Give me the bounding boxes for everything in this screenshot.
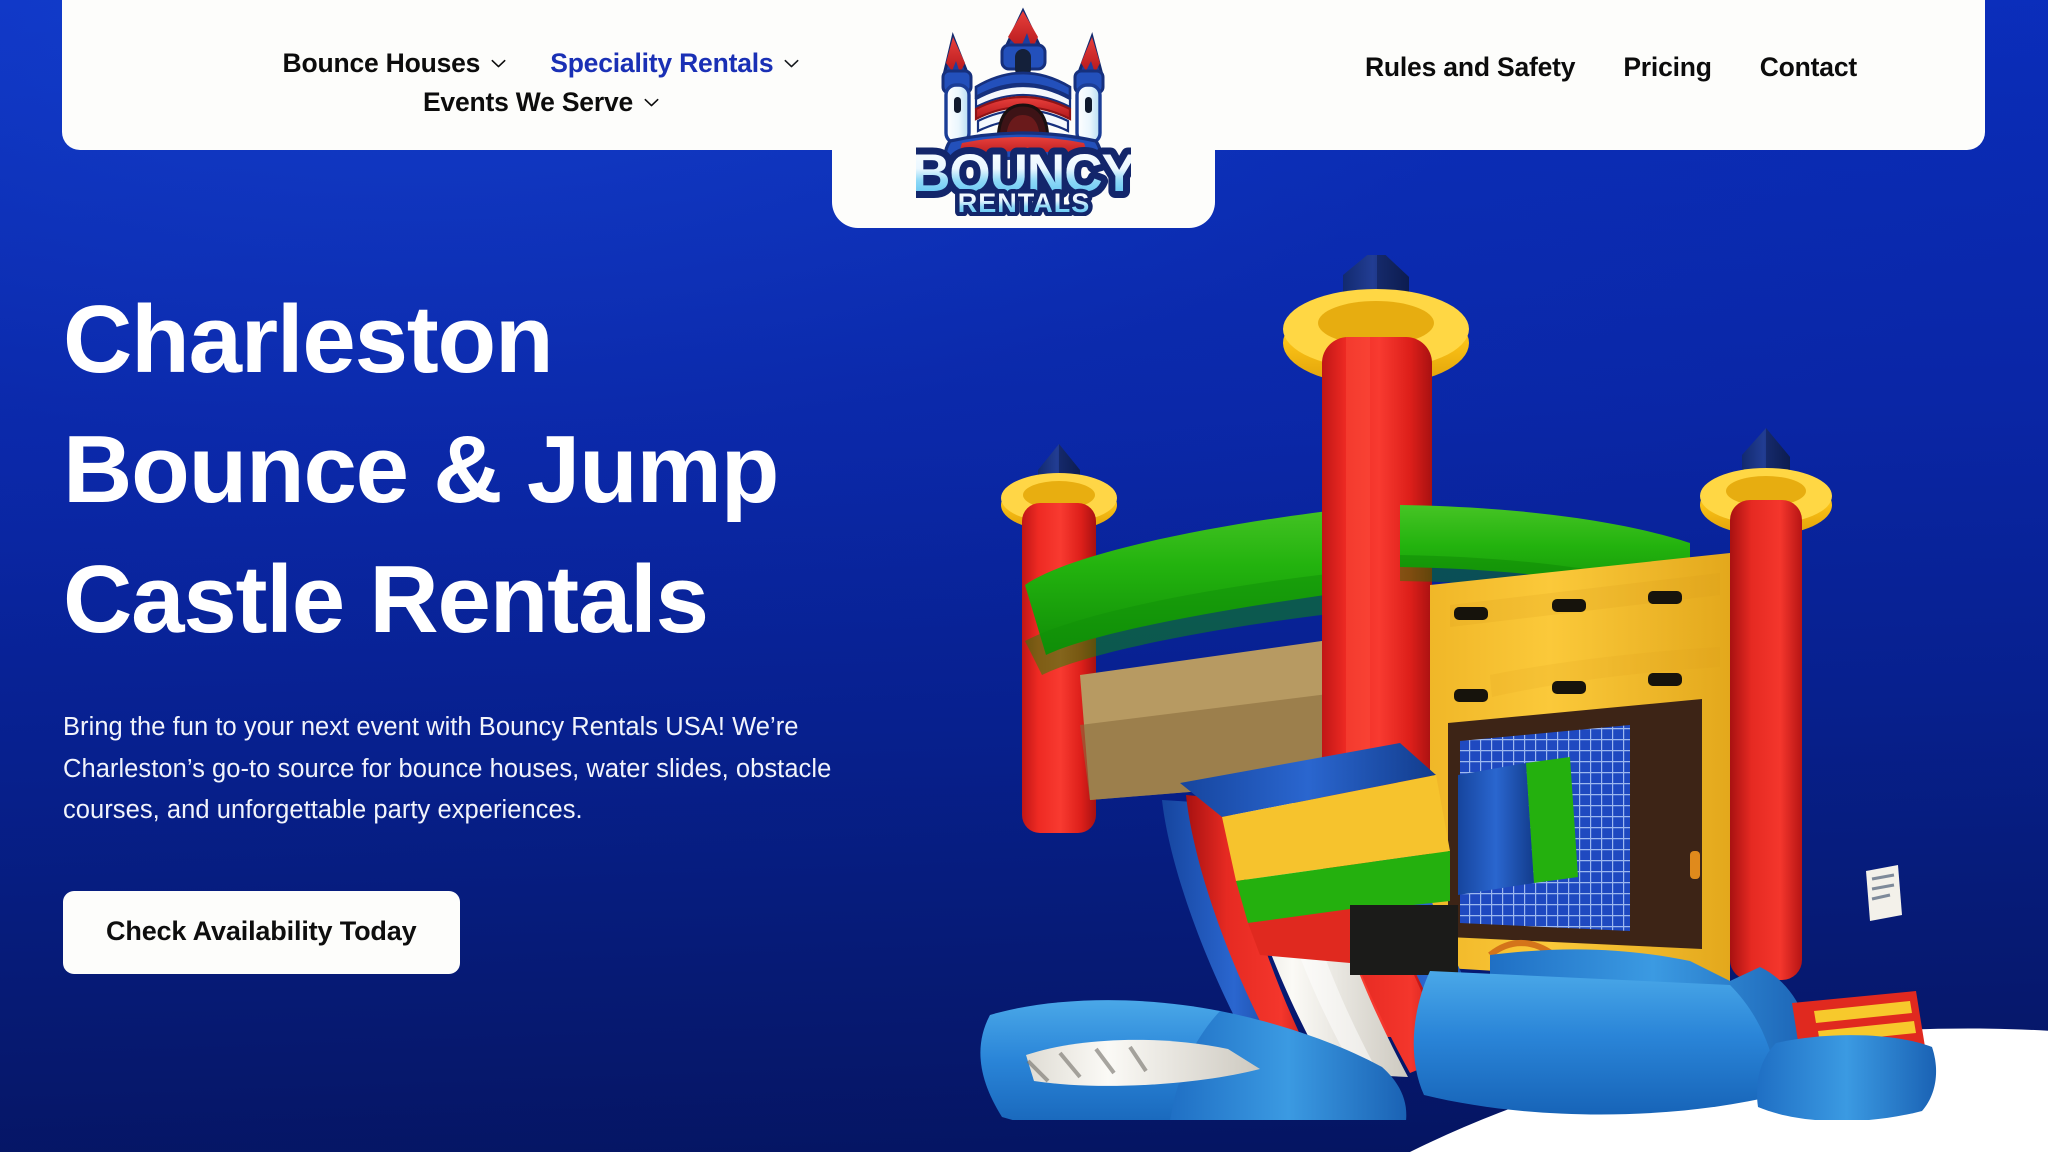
logo-panel[interactable]: BOUNCY BOUNCY RENTALS RENTALS [832, 0, 1215, 228]
headline-line-2: Bounce & Jump [63, 405, 983, 535]
chevron-down-icon[interactable] [642, 93, 661, 112]
chevron-down-icon[interactable] [782, 54, 801, 73]
nav-item-events-we-serve[interactable]: Events We Serve [423, 87, 661, 118]
headline-line-1: Charleston [63, 275, 983, 405]
hero-page: Charleston Bounce & Jump Castle Rentals … [0, 0, 2048, 1152]
bounce-house-image [930, 255, 2048, 1120]
headline-line-3: Castle Rentals [63, 535, 983, 665]
nav-left-group: Bounce Houses Speciality Rentals Events … [192, 48, 892, 119]
svg-text:RENTALS: RENTALS [958, 188, 1091, 216]
nav-item-rules-and-safety[interactable]: Rules and Safety [1365, 52, 1575, 83]
nav-item-speciality-rentals[interactable]: Speciality Rentals [550, 48, 801, 79]
nav-item-label: Bounce Houses [283, 48, 481, 79]
nav-right-group: Rules and Safety Pricing Contact [1365, 52, 1857, 83]
nav-item-label: Events We Serve [423, 87, 633, 118]
nav-item-bounce-houses[interactable]: Bounce Houses [283, 48, 509, 79]
nav-item-label: Speciality Rentals [550, 48, 773, 79]
nav-item-contact[interactable]: Contact [1760, 52, 1857, 83]
chevron-down-icon[interactable] [489, 54, 508, 73]
page-title: Charleston Bounce & Jump Castle Rentals [63, 275, 983, 665]
hero-description: Bring the fun to your next event with Bo… [63, 707, 925, 831]
nav-item-pricing[interactable]: Pricing [1623, 52, 1711, 83]
hero-content: Charleston Bounce & Jump Castle Rentals … [63, 275, 983, 974]
bounce-castle-logo-icon[interactable]: BOUNCY BOUNCY RENTALS RENTALS [916, 1, 1131, 216]
check-availability-button[interactable]: Check Availability Today [63, 891, 460, 974]
